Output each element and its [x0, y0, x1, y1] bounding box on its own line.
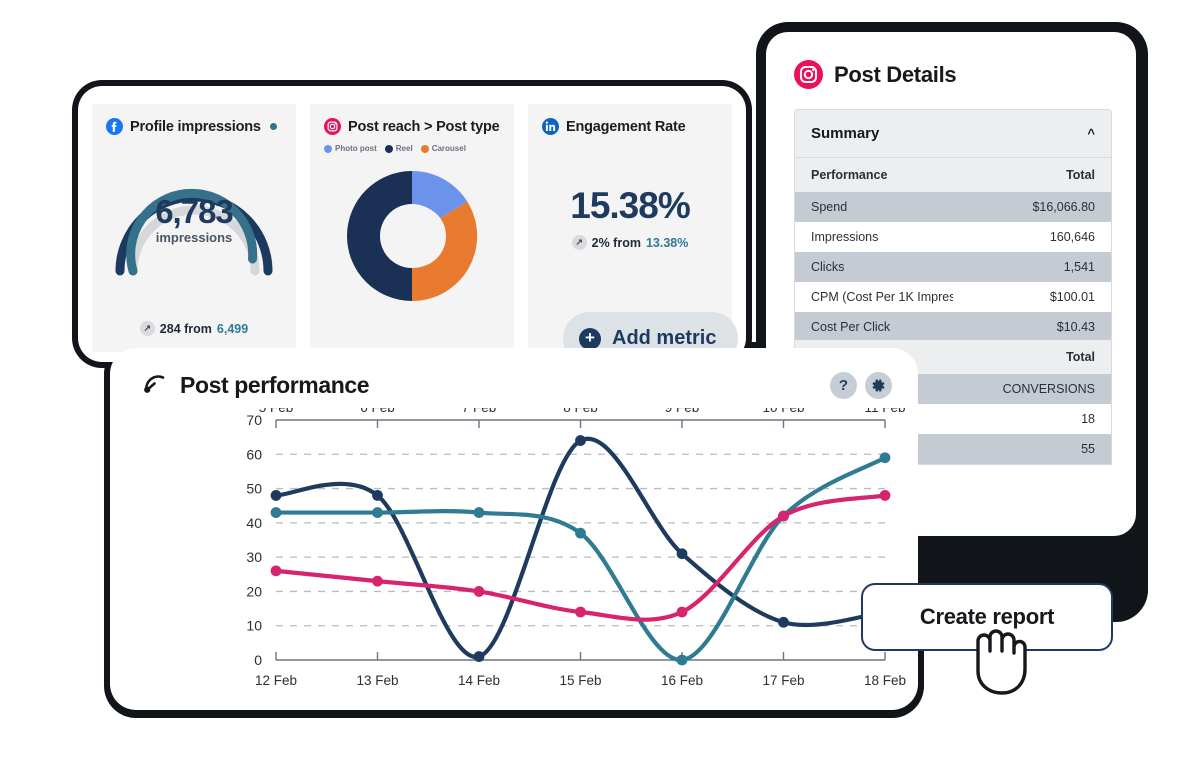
gauge-value: 6,783	[106, 193, 282, 231]
summary-collapse-header[interactable]: Summary ^	[795, 110, 1111, 158]
chart-point-navy[interactable]	[372, 490, 383, 501]
gauge-unit: impressions	[106, 230, 282, 245]
row-total: $100.01	[953, 282, 1111, 312]
post-performance-panel: Post performance ? 0102030405060705 Feb6…	[110, 348, 918, 710]
y-axis-tick-label: 60	[246, 446, 262, 462]
chart-point-pink[interactable]	[880, 490, 891, 501]
chart-point-navy[interactable]	[575, 435, 586, 446]
x-axis-top-label: 11 Feb	[864, 408, 905, 415]
legend-item: Carousel	[421, 144, 466, 153]
add-metric-label: Add metric	[612, 327, 716, 350]
x-axis-bottom-label: 16 Feb	[661, 673, 703, 688]
row-total: CONVERSIONS	[953, 374, 1111, 404]
chart-point-navy[interactable]	[677, 548, 688, 559]
legend-item: Reel	[385, 144, 413, 153]
x-axis-top-label: 7 Feb	[462, 408, 497, 415]
card-header: Post reach > Post type	[324, 118, 500, 135]
row-total: 55	[953, 434, 1111, 464]
x-axis-bottom-label: 13 Feb	[356, 673, 398, 688]
delta-previous-value: 6,499	[217, 322, 248, 336]
x-axis-top-label: 9 Feb	[665, 408, 700, 415]
gear-icon[interactable]	[865, 372, 892, 399]
delta-previous-value: 13.38%	[646, 236, 688, 250]
delta-text: 2% from	[592, 236, 641, 250]
card-header: Profile impressions	[106, 118, 282, 135]
row-label: Impressions	[795, 222, 953, 252]
col-performance: Performance	[795, 158, 953, 192]
chart-title: Post performance	[180, 372, 369, 399]
donut-chart	[339, 163, 485, 309]
summary-label: Summary	[811, 125, 879, 142]
row-label: Cost Per Click	[795, 312, 953, 342]
y-axis-tick-label: 30	[246, 549, 262, 565]
status-dot-icon	[270, 123, 277, 130]
linkedin-icon	[542, 118, 559, 135]
legend-item: Photo post	[324, 144, 377, 153]
legend-swatch-icon	[324, 145, 332, 153]
chart-header: Post performance ?	[142, 370, 892, 400]
hand-pointer-cursor	[958, 617, 1032, 697]
chart-point-pink[interactable]	[677, 607, 688, 618]
gauge-chart: 6,783 impressions	[106, 149, 282, 279]
chart-point-teal[interactable]	[271, 507, 282, 518]
x-axis-bottom-label: 12 Feb	[255, 673, 297, 688]
chevron-up-icon[interactable]: ^	[1087, 126, 1095, 141]
post-details-title: Post Details	[834, 62, 956, 88]
row-total: 18	[953, 404, 1111, 434]
trend-up-arrow-icon: ↗	[572, 235, 587, 250]
delta-row: ↗ 284 from 6,499	[92, 321, 296, 336]
table-header-row: Performance Total	[795, 158, 1111, 192]
y-axis-tick-label: 50	[246, 481, 262, 497]
chart-point-teal[interactable]	[474, 507, 485, 518]
speedometer-icon	[142, 370, 167, 400]
post-performance-chart[interactable]: 0102030405060705 Feb6 Feb7 Feb8 Feb9 Feb…	[110, 408, 918, 698]
y-axis-tick-label: 40	[246, 515, 262, 531]
question-mark-icon[interactable]: ?	[830, 372, 857, 399]
delta-row: ↗ 2% from 13.38%	[542, 235, 718, 250]
table-row[interactable]: CPM (Cost Per 1K Impressions)$100.01	[795, 282, 1111, 312]
chart-point-navy[interactable]	[271, 490, 282, 501]
table-row[interactable]: Spend$16,066.80	[795, 192, 1111, 222]
delta-text: 284 from	[160, 322, 212, 336]
chart-point-teal[interactable]	[880, 452, 891, 463]
card-title: Engagement Rate	[566, 119, 685, 135]
row-label: Spend	[795, 192, 953, 222]
x-axis-top-label: 5 Feb	[259, 408, 294, 415]
chart-point-pink[interactable]	[474, 586, 485, 597]
chart-point-teal[interactable]	[575, 528, 586, 539]
chart-point-navy[interactable]	[474, 651, 485, 662]
legend-label: Reel	[396, 144, 413, 153]
chart-toolbar: ?	[830, 372, 892, 399]
row-label: CPM (Cost Per 1K Impressions)	[795, 282, 953, 312]
legend-swatch-icon	[421, 145, 429, 153]
chart-point-teal[interactable]	[677, 655, 688, 666]
instagram-icon	[794, 60, 823, 89]
engagement-rate-value: 15.38%	[542, 185, 718, 227]
row-total: $16,066.80	[953, 192, 1111, 222]
post-details-header: Post Details	[794, 60, 1112, 89]
row-total: $10.43	[953, 312, 1111, 342]
donut-legend: Photo post Reel Carousel	[324, 144, 500, 153]
y-axis-tick-label: 10	[246, 618, 262, 634]
col-total: Total	[953, 340, 1111, 374]
y-axis-tick-label: 0	[254, 652, 262, 668]
chart-line-navy	[276, 439, 885, 657]
plus-icon: +	[579, 328, 601, 350]
legend-label: Carousel	[432, 144, 466, 153]
facebook-icon	[106, 118, 123, 135]
y-axis-tick-label: 20	[246, 583, 262, 599]
instagram-icon	[324, 118, 341, 135]
x-axis-top-label: 10 Feb	[762, 408, 804, 415]
chart-point-pink[interactable]	[372, 576, 383, 587]
row-total: 160,646	[953, 222, 1111, 252]
x-axis-bottom-label: 17 Feb	[762, 673, 804, 688]
x-axis-top-label: 8 Feb	[563, 408, 598, 415]
chart-point-teal[interactable]	[372, 507, 383, 518]
chart-point-pink[interactable]	[778, 511, 789, 522]
col-total: Total	[953, 158, 1111, 192]
chart-point-navy[interactable]	[778, 617, 789, 628]
summary-section: Summary ^ Performance Total Spend$16,066…	[794, 109, 1112, 343]
chart-point-pink[interactable]	[575, 607, 586, 618]
x-axis-bottom-label: 18 Feb	[864, 673, 906, 688]
table-row[interactable]: Impressions160,646	[795, 222, 1111, 252]
card-header: Engagement Rate	[542, 118, 718, 135]
card-post-reach[interactable]: Post reach > Post type Photo post Reel C…	[310, 104, 514, 352]
card-title: Post reach > Post type	[348, 119, 500, 135]
chart-point-pink[interactable]	[271, 565, 282, 576]
trend-up-arrow-icon: ↗	[140, 321, 155, 336]
legend-swatch-icon	[385, 145, 393, 153]
legend-label: Photo post	[335, 144, 377, 153]
card-profile-impressions[interactable]: Profile impressions 6,783 impressio	[92, 104, 296, 352]
row-total: 1,541	[953, 252, 1111, 282]
card-title: Profile impressions	[130, 119, 261, 135]
table-row[interactable]: Cost Per Click$10.43	[795, 312, 1111, 342]
table-row[interactable]: Clicks1,541	[795, 252, 1111, 282]
row-label: Clicks	[795, 252, 953, 282]
x-axis-top-label: 6 Feb	[360, 408, 395, 415]
x-axis-bottom-label: 15 Feb	[559, 673, 601, 688]
gauge-center-label: 6,783 impressions	[106, 193, 282, 245]
summary-table: Performance Total Spend$16,066.80Impress…	[795, 158, 1111, 342]
x-axis-bottom-label: 14 Feb	[458, 673, 500, 688]
